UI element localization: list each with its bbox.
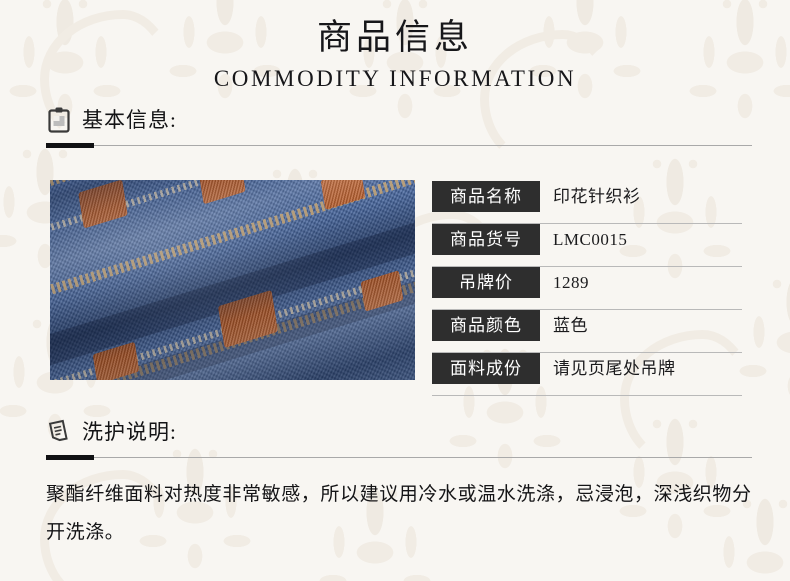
section-care-instructions: 洗护说明:: [46, 416, 752, 461]
table-row: 商品货号 LMC0015: [432, 224, 742, 267]
section-basic-info: 基本信息:: [46, 104, 752, 149]
product-photo: [50, 180, 415, 380]
care-instructions-text: 聚酯纤维面料对热度非常敏感，所以建议用冷水或温水洗涤，忌浸泡，深浅织物分开洗涤。: [46, 476, 752, 552]
section-divider-care: [46, 455, 752, 461]
info-label: 吊牌价: [432, 267, 540, 298]
product-info-page: 商品信息 COMMODITY INFORMATION 基本信息:: [0, 0, 790, 581]
table-row: 吊牌价 1289: [432, 267, 742, 310]
info-label: 商品货号: [432, 224, 540, 255]
page-header: 商品信息 COMMODITY INFORMATION: [0, 16, 790, 94]
section-title-care: 洗护说明:: [82, 418, 177, 446]
page-title-en: COMMODITY INFORMATION: [0, 64, 790, 94]
section-divider-basic: [46, 143, 752, 149]
care-document-icon: [46, 418, 72, 446]
info-label: 面料成份: [432, 353, 540, 384]
info-value: 1289: [540, 267, 589, 298]
table-row: 面料成份 请见页尾处吊牌: [432, 353, 742, 396]
info-value: LMC0015: [540, 224, 627, 255]
info-value: 请见页尾处吊牌: [540, 353, 676, 384]
info-value: 蓝色: [540, 310, 588, 341]
page-title-cn: 商品信息: [0, 16, 790, 60]
product-info-table: 商品名称 印花针织衫 商品货号 LMC0015 吊牌价 1289 商品颜色 蓝色…: [432, 181, 742, 396]
info-label: 商品名称: [432, 181, 540, 212]
info-value: 印花针织衫: [540, 181, 641, 212]
table-row: 商品名称 印花针织衫: [432, 181, 742, 224]
clipboard-icon: [46, 106, 72, 134]
table-row: 商品颜色 蓝色: [432, 310, 742, 353]
section-title-basic: 基本信息:: [82, 106, 177, 134]
info-label: 商品颜色: [432, 310, 540, 341]
